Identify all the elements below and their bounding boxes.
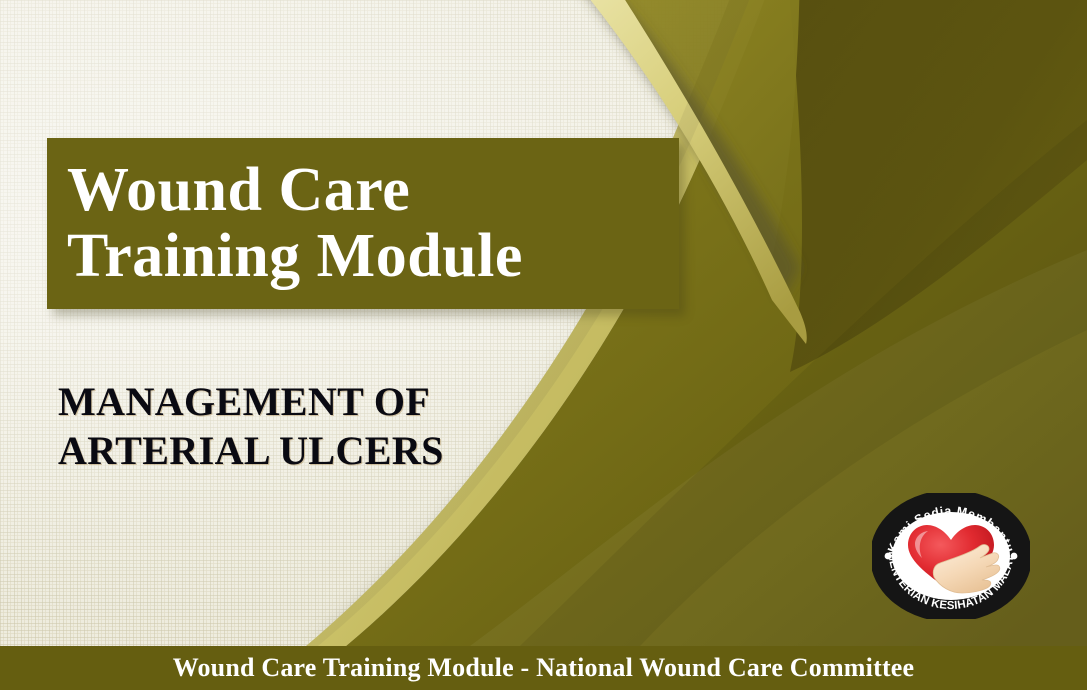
subtitle-line-1: MANAGEMENT OF (58, 378, 678, 427)
footer-text: Wound Care Training Module - National Wo… (173, 653, 915, 683)
slide-subtitle: MANAGEMENT OF ARTERIAL ULCERS (58, 378, 678, 476)
footer-bar: Wound Care Training Module - National Wo… (0, 646, 1087, 690)
logo-dot-left (885, 553, 892, 560)
logo-dot-right (1011, 553, 1018, 560)
slide-title-box: Wound Care Training Module (47, 138, 679, 309)
title-line-1: Wound Care (67, 158, 679, 224)
title-line-2: Training Module (67, 224, 679, 290)
subtitle-line-2: ARTERIAL ULCERS (58, 427, 678, 476)
ministry-of-health-malaysia-logo: Kami Sedia Membantu KEMENTERIAN KESIHATA… (872, 493, 1030, 619)
title-slide: Wound Care Training Module MANAGEMENT OF… (0, 0, 1087, 690)
